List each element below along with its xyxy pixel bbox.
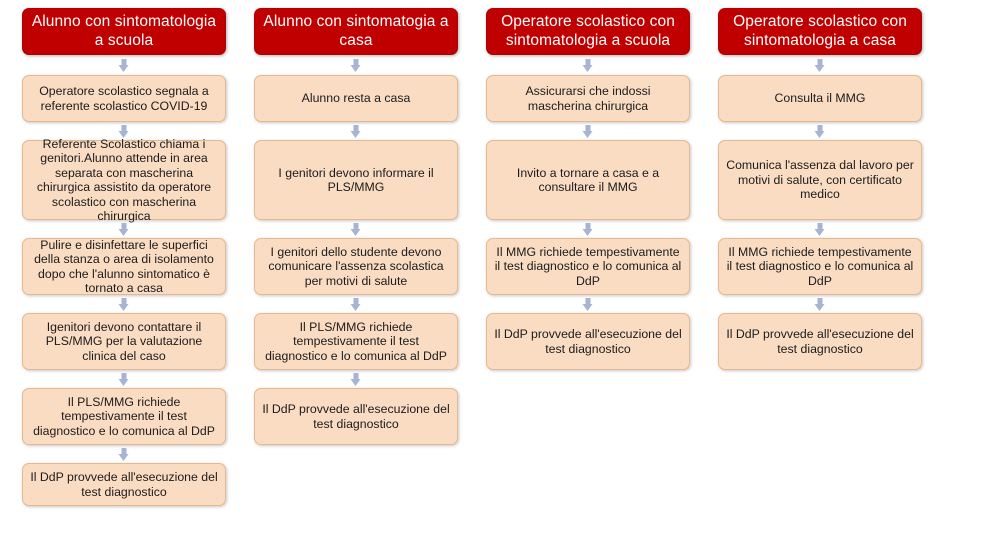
arrow-head [583,131,593,138]
flow-arrow-down-icon [351,125,362,138]
flow-header-label: Operatore scolastico con sintomatologia … [726,13,914,50]
flow-arrow-down-icon [119,373,130,386]
flow-step-label: Invito a tornare a casa e a consultare i… [494,166,682,195]
flow-arrow-down-icon [583,223,594,236]
arrow-head [815,229,825,236]
flow-arrow-down-icon [583,298,594,311]
flow-step[interactable]: Consulta il MMG [718,75,922,122]
arrow-head [119,454,129,461]
arrow-head [119,229,129,236]
flow-arrow-down-icon [351,373,362,386]
arrow-head [351,229,361,236]
flow-step[interactable]: Operatore scolastico segnala a referente… [22,75,226,122]
arrow-head [119,65,129,72]
flow-step-label: Referente Scolastico chiama i genitori.A… [30,137,218,224]
flow-arrow-down-icon [351,59,362,72]
flow-step[interactable]: Alunno resta a casa [254,75,458,122]
flow-step[interactable]: Il DdP provvede all'esecuzione del test … [718,313,922,370]
flow-arrow-down-icon [815,125,826,138]
flow-arrow-down-icon [119,298,130,311]
flow-header-operatore-a-casa[interactable]: Operatore scolastico con sintomatologia … [718,8,922,55]
flow-step[interactable]: I genitori devono informare il PLS/MMG [254,140,458,220]
flow-header-alunno-a-casa[interactable]: Alunno con sintomatogia a casa [254,8,458,55]
flow-step[interactable]: Comunica l'assenza dal lavoro per motivi… [718,140,922,220]
flow-header-alunno-a-scuola[interactable]: Alunno con sintomatologia a scuola [22,8,226,55]
flow-step-label: Il DdP provvede all'esecuzione del test … [726,327,914,356]
flow-step-label: Il MMG richiede tempestivamente il test … [726,245,914,289]
flow-step-label: Operatore scolastico segnala a referente… [30,84,218,113]
arrow-head [351,304,361,311]
flowchart-canvas: Alunno con sintomatologia a scuolaOperat… [0,0,981,559]
flow-step-label: Il DdP provvede all'esecuzione del test … [262,402,450,431]
arrow-head [815,65,825,72]
flow-arrow-down-icon [583,59,594,72]
flow-step[interactable]: Il DdP provvede all'esecuzione del test … [22,463,226,506]
flow-arrow-down-icon [583,125,594,138]
flow-arrow-down-icon [351,223,362,236]
flow-step[interactable]: Il DdP provvede all'esecuzione del test … [486,313,690,370]
arrow-head [119,379,129,386]
flow-step-label: Il DdP provvede all'esecuzione del test … [494,327,682,356]
arrow-head [351,379,361,386]
flow-step-label: Assicurarsi che indossi mascherina chiru… [494,84,682,113]
flow-arrow-down-icon [119,448,130,461]
flow-arrow-down-icon [119,223,130,236]
flow-step-label: Alunno resta a casa [302,91,411,106]
arrow-head [815,131,825,138]
flow-step[interactable]: Assicurarsi che indossi mascherina chiru… [486,75,690,122]
arrow-head [583,304,593,311]
flow-arrow-down-icon [351,298,362,311]
flow-arrow-down-icon [815,223,826,236]
flow-header-label: Alunno con sintomatogia a casa [262,13,450,50]
flow-step-label: Il PLS/MMG richiede tempestivamente il t… [30,395,218,439]
arrow-head [815,304,825,311]
flow-step[interactable]: Referente Scolastico chiama i genitori.A… [22,140,226,220]
flow-header-operatore-a-scuola[interactable]: Operatore scolastico con sintomatologia … [486,8,690,55]
flow-step[interactable]: Il MMG richiede tempestivamente il test … [486,238,690,295]
arrow-head [583,65,593,72]
flow-step-label: I genitori dello studente devono comunic… [262,245,450,289]
flow-step[interactable]: Pulire e disinfettare le superfici della… [22,238,226,295]
flow-step-label: Il MMG richiede tempestivamente il test … [494,245,682,289]
arrow-head [351,131,361,138]
flow-step[interactable]: Invito a tornare a casa e a consultare i… [486,140,690,220]
flow-header-label: Alunno con sintomatologia a scuola [30,13,218,50]
arrow-head [351,65,361,72]
flow-step[interactable]: Il DdP provvede all'esecuzione del test … [254,388,458,445]
flow-step[interactable]: Il PLS/MMG richiede tempestivamente il t… [254,313,458,370]
flow-step-label: Igenitori devono contattare il PLS/MMG p… [30,320,218,364]
flow-arrow-down-icon [119,59,130,72]
flow-step-label: Comunica l'assenza dal lavoro per motivi… [726,158,914,202]
flow-step-label: Pulire e disinfettare le superfici della… [30,238,218,296]
flow-arrow-down-icon [815,59,826,72]
flow-step[interactable]: Il MMG richiede tempestivamente il test … [718,238,922,295]
flow-arrow-down-icon [815,298,826,311]
flow-header-label: Operatore scolastico con sintomatologia … [494,13,682,50]
flow-step[interactable]: Igenitori devono contattare il PLS/MMG p… [22,313,226,370]
flow-step[interactable]: I genitori dello studente devono comunic… [254,238,458,295]
flow-step-label: Consulta il MMG [775,91,866,106]
arrow-head [119,304,129,311]
flow-step-label: Il PLS/MMG richiede tempestivamente il t… [262,320,450,364]
flow-step-label: I genitori devono informare il PLS/MMG [262,166,450,195]
flow-step[interactable]: Il PLS/MMG richiede tempestivamente il t… [22,388,226,445]
flow-step-label: Il DdP provvede all'esecuzione del test … [30,470,218,499]
arrow-head [583,229,593,236]
